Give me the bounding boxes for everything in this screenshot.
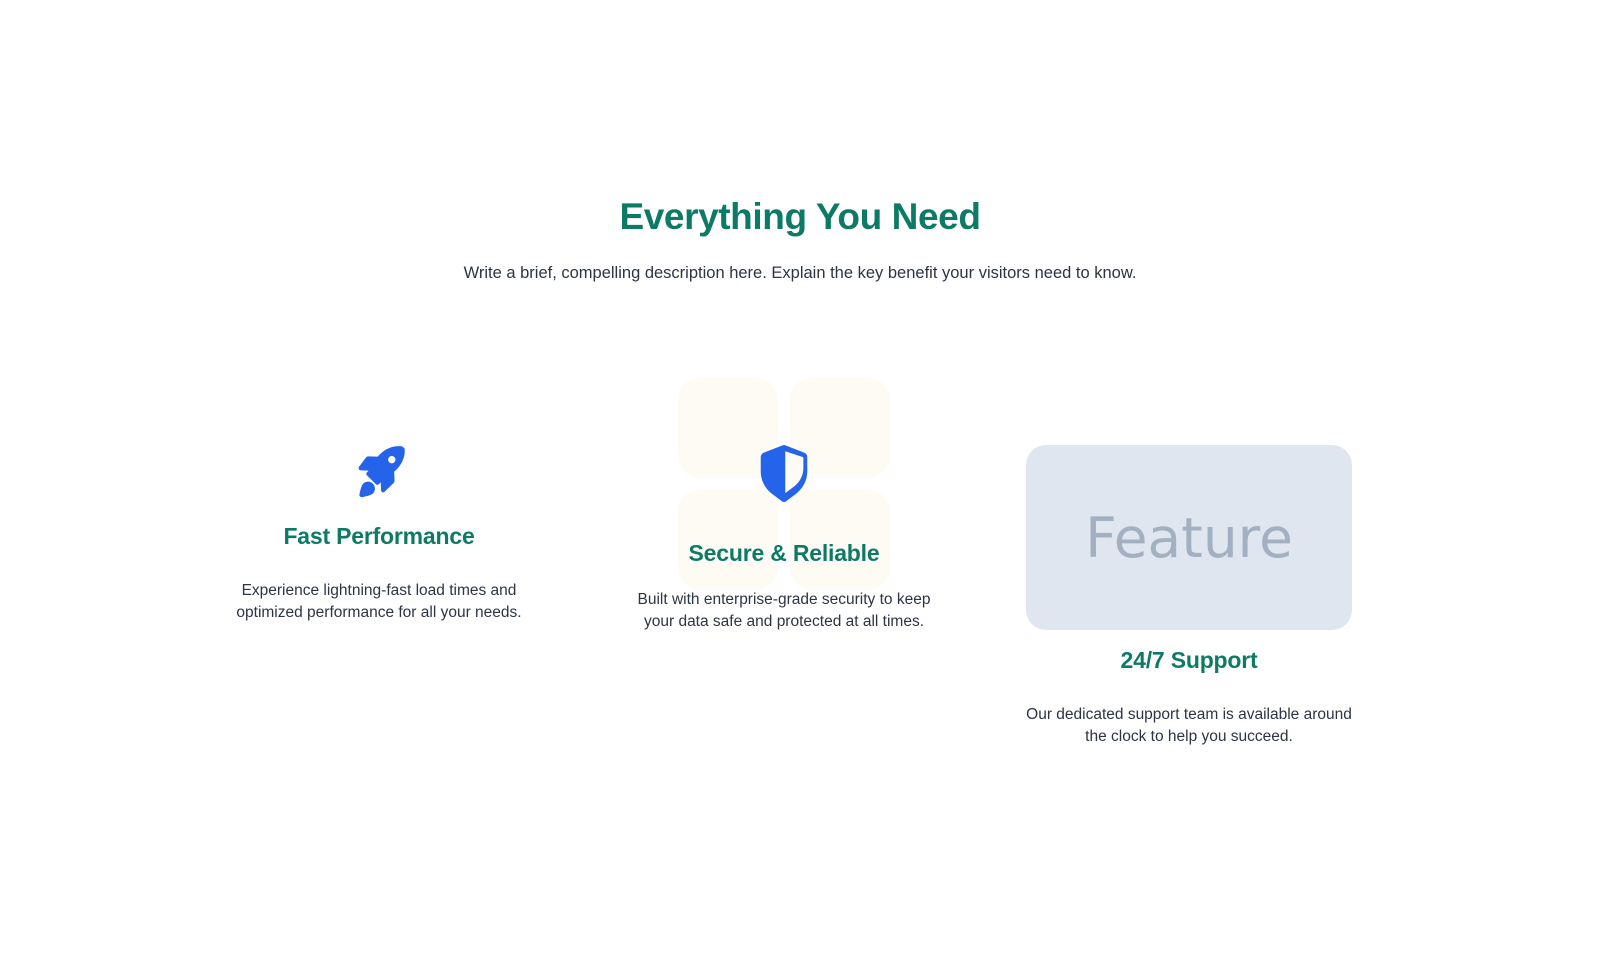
feature-title: Fast Performance [216,521,542,551]
page-title: Everything You Need [0,193,1600,241]
feature-title: Secure & Reliable [621,538,947,568]
section-subtitle: Write a brief, compelling description he… [0,260,1600,286]
features-grid: Fast Performance Experience lightning-fa… [0,352,1600,782]
feature-section-page: Everything You Need Write a brief, compe… [0,0,1600,978]
feature-title: 24/7 Support [1026,645,1352,675]
image-placeholder: Feature [1026,445,1352,630]
section-header: Everything You Need Write a brief, compe… [0,193,1600,286]
image-placeholder-label: Feature [1085,508,1293,568]
feature-description: Built with enterprise-grade security to … [621,589,947,633]
feature-description: Experience lightning-fast load times and… [216,580,542,624]
rocket-icon [348,440,410,502]
feature-description: Our dedicated support team is available … [1026,704,1352,748]
shield-icon [753,440,815,502]
